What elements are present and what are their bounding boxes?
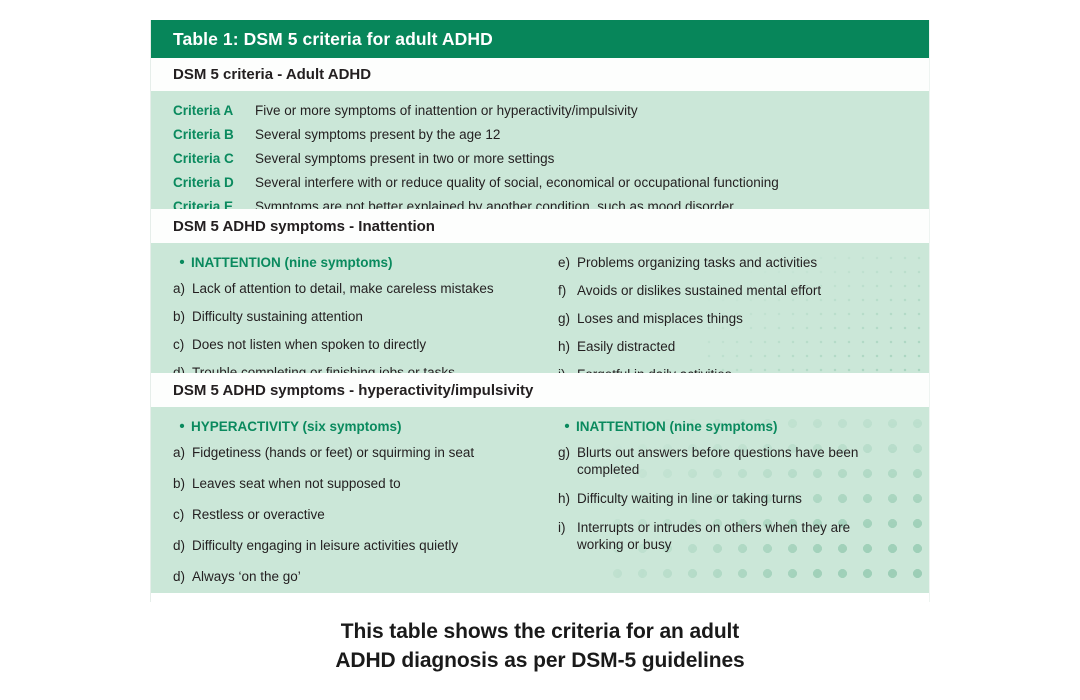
- dsm5-criteria-table: Table 1: DSM 5 criteria for adult ADHD D…: [150, 20, 930, 602]
- criteria-text: Five or more symptoms of inattention or …: [255, 103, 638, 118]
- symptom-marker: c): [173, 337, 192, 354]
- symptom-item: d) Always ‘on the go’: [173, 569, 530, 586]
- symptom-item: i) Interrupts or intrudes on others when…: [558, 520, 911, 554]
- symptom-text: Leaves seat when not supposed to: [192, 476, 530, 493]
- symptom-marker: i): [558, 520, 577, 537]
- symptom-text: Does not listen when spoken to directly: [192, 337, 530, 354]
- criteria-label: Criteria C: [173, 151, 255, 166]
- symptom-text: Trouble completing or finishing jobs or …: [192, 365, 530, 373]
- inattention-columns: • INATTENTION (nine symptoms) a) Lack of…: [173, 255, 911, 373]
- symptom-text: Problems organizing tasks and activities: [577, 255, 911, 272]
- criteria-text: Several symptoms present in two or more …: [255, 151, 554, 166]
- symptom-marker: a): [173, 445, 192, 462]
- symptom-item: a) Fidgetiness (hands or feet) or squirm…: [173, 445, 530, 462]
- bullet-icon: •: [173, 419, 191, 434]
- symptom-marker: g): [558, 311, 577, 328]
- symptom-marker: h): [558, 491, 577, 508]
- symptom-group-title-row: • INATTENTION (nine symptoms): [558, 419, 911, 434]
- criteria-row: Criteria A Five or more symptoms of inat…: [173, 103, 907, 127]
- symptom-text: Difficulty engaging in leisure activitie…: [192, 538, 530, 555]
- inattention-right-column: e) Problems organizing tasks and activit…: [542, 255, 911, 373]
- table-title-text: Table 1: DSM 5 criteria for adult ADHD: [173, 29, 493, 50]
- figure-caption-line-1: This table shows the criteria for an adu…: [0, 618, 1080, 647]
- symptom-marker: c): [173, 507, 192, 524]
- panel-criteria: Criteria A Five or more symptoms of inat…: [151, 91, 929, 209]
- symptom-text: Interrupts or intrudes on others when th…: [577, 520, 895, 554]
- bullet-icon: •: [173, 255, 191, 270]
- symptom-text: Difficulty waiting in line or taking tur…: [577, 491, 895, 508]
- symptom-group-title: INATTENTION (nine symptoms): [191, 255, 393, 270]
- symptom-marker: d): [173, 569, 192, 586]
- symptom-group-title: HYPERACTIVITY (six symptoms): [191, 419, 402, 434]
- symptom-item: g) Blurts out answers before questions h…: [558, 445, 911, 479]
- symptom-group-title: INATTENTION (nine symptoms): [576, 419, 778, 434]
- symptom-text: Forgetful in daily activities: [577, 367, 911, 374]
- symptom-text: Easily distracted: [577, 339, 911, 356]
- section-heading-criteria: DSM 5 criteria - Adult ADHD: [151, 58, 929, 91]
- symptom-item: c) Restless or overactive: [173, 507, 530, 524]
- figure-caption-line-2: ADHD diagnosis as per DSM-5 guidelines: [0, 647, 1080, 676]
- symptom-marker: d): [173, 365, 192, 373]
- section-heading-criteria-text: DSM 5 criteria - Adult ADHD: [173, 66, 371, 83]
- symptom-item: b) Difficulty sustaining attention: [173, 309, 530, 326]
- symptom-group-title-row: • INATTENTION (nine symptoms): [173, 255, 530, 270]
- symptom-marker: g): [558, 445, 577, 462]
- panel-inattention: • INATTENTION (nine symptoms) a) Lack of…: [151, 243, 929, 373]
- section-heading-hyperactivity-text: DSM 5 ADHD symptoms - hyperactivity/impu…: [173, 382, 533, 399]
- symptom-text: Restless or overactive: [192, 507, 530, 524]
- section-heading-inattention: DSM 5 ADHD symptoms - Inattention: [151, 209, 929, 243]
- criteria-label: Criteria E: [173, 199, 255, 209]
- symptom-marker: i): [558, 367, 577, 374]
- criteria-label: Criteria D: [173, 175, 255, 190]
- panel-hyperactivity: • HYPERACTIVITY (six symptoms) a) Fidget…: [151, 407, 929, 593]
- symptom-item: b) Leaves seat when not supposed to: [173, 476, 530, 493]
- figure-root: Table 1: DSM 5 criteria for adult ADHD D…: [0, 0, 1080, 700]
- figure-caption: This table shows the criteria for an adu…: [0, 618, 1080, 675]
- criteria-text: Symptoms are not better explained by ano…: [255, 199, 734, 209]
- criteria-label: Criteria A: [173, 103, 255, 118]
- table-title-bar: Table 1: DSM 5 criteria for adult ADHD: [151, 20, 929, 58]
- symptom-item: h) Difficulty waiting in line or taking …: [558, 491, 911, 508]
- section-heading-inattention-text: DSM 5 ADHD symptoms - Inattention: [173, 218, 435, 235]
- criteria-row: Criteria E Symptoms are not better expla…: [173, 199, 907, 209]
- symptom-marker: a): [173, 281, 192, 298]
- inattention-left-column: • INATTENTION (nine symptoms) a) Lack of…: [173, 255, 542, 373]
- criteria-row: Criteria D Several interfere with or red…: [173, 175, 907, 199]
- criteria-text: Several symptoms present by the age 12: [255, 127, 500, 142]
- section-heading-hyperactivity: DSM 5 ADHD symptoms - hyperactivity/impu…: [151, 373, 929, 407]
- symptom-item: g) Loses and misplaces things: [558, 311, 911, 328]
- criteria-label: Criteria B: [173, 127, 255, 142]
- hyperactivity-columns: • HYPERACTIVITY (six symptoms) a) Fidget…: [173, 419, 911, 593]
- criteria-row: Criteria B Several symptoms present by t…: [173, 127, 907, 151]
- symptom-marker: e): [558, 255, 577, 272]
- symptom-text: Blurts out answers before questions have…: [577, 445, 895, 479]
- symptom-item: d) Difficulty engaging in leisure activi…: [173, 538, 530, 555]
- symptom-text: Loses and misplaces things: [577, 311, 911, 328]
- symptom-item: e) Problems organizing tasks and activit…: [558, 255, 911, 272]
- symptom-item: c) Does not listen when spoken to direct…: [173, 337, 530, 354]
- symptom-marker: d): [173, 538, 192, 555]
- symptom-marker: f): [558, 283, 577, 300]
- symptom-text: Lack of attention to detail, make carele…: [192, 281, 530, 298]
- symptom-text: Avoids or dislikes sustained mental effo…: [577, 283, 911, 300]
- symptom-text: Always ‘on the go’: [192, 569, 530, 586]
- symptom-marker: h): [558, 339, 577, 356]
- symptom-marker: b): [173, 476, 192, 493]
- symptom-item: h) Easily distracted: [558, 339, 911, 356]
- symptom-item: i) Forgetful in daily activities: [558, 367, 911, 374]
- symptom-group-title-row: • HYPERACTIVITY (six symptoms): [173, 419, 530, 434]
- hyperactivity-right-column: • INATTENTION (nine symptoms) g) Blurts …: [542, 419, 911, 593]
- symptom-text: Difficulty sustaining attention: [192, 309, 530, 326]
- symptom-item: a) Lack of attention to detail, make car…: [173, 281, 530, 298]
- symptom-text: Fidgetiness (hands or feet) or squirming…: [192, 445, 530, 462]
- hyperactivity-left-column: • HYPERACTIVITY (six symptoms) a) Fidget…: [173, 419, 542, 593]
- criteria-row: Criteria C Several symptoms present in t…: [173, 151, 907, 175]
- criteria-text: Several interfere with or reduce quality…: [255, 175, 779, 190]
- symptom-item: f) Avoids or dislikes sustained mental e…: [558, 283, 911, 300]
- symptom-item: d) Trouble completing or finishing jobs …: [173, 365, 530, 373]
- bullet-icon: •: [558, 419, 576, 434]
- symptom-marker: b): [173, 309, 192, 326]
